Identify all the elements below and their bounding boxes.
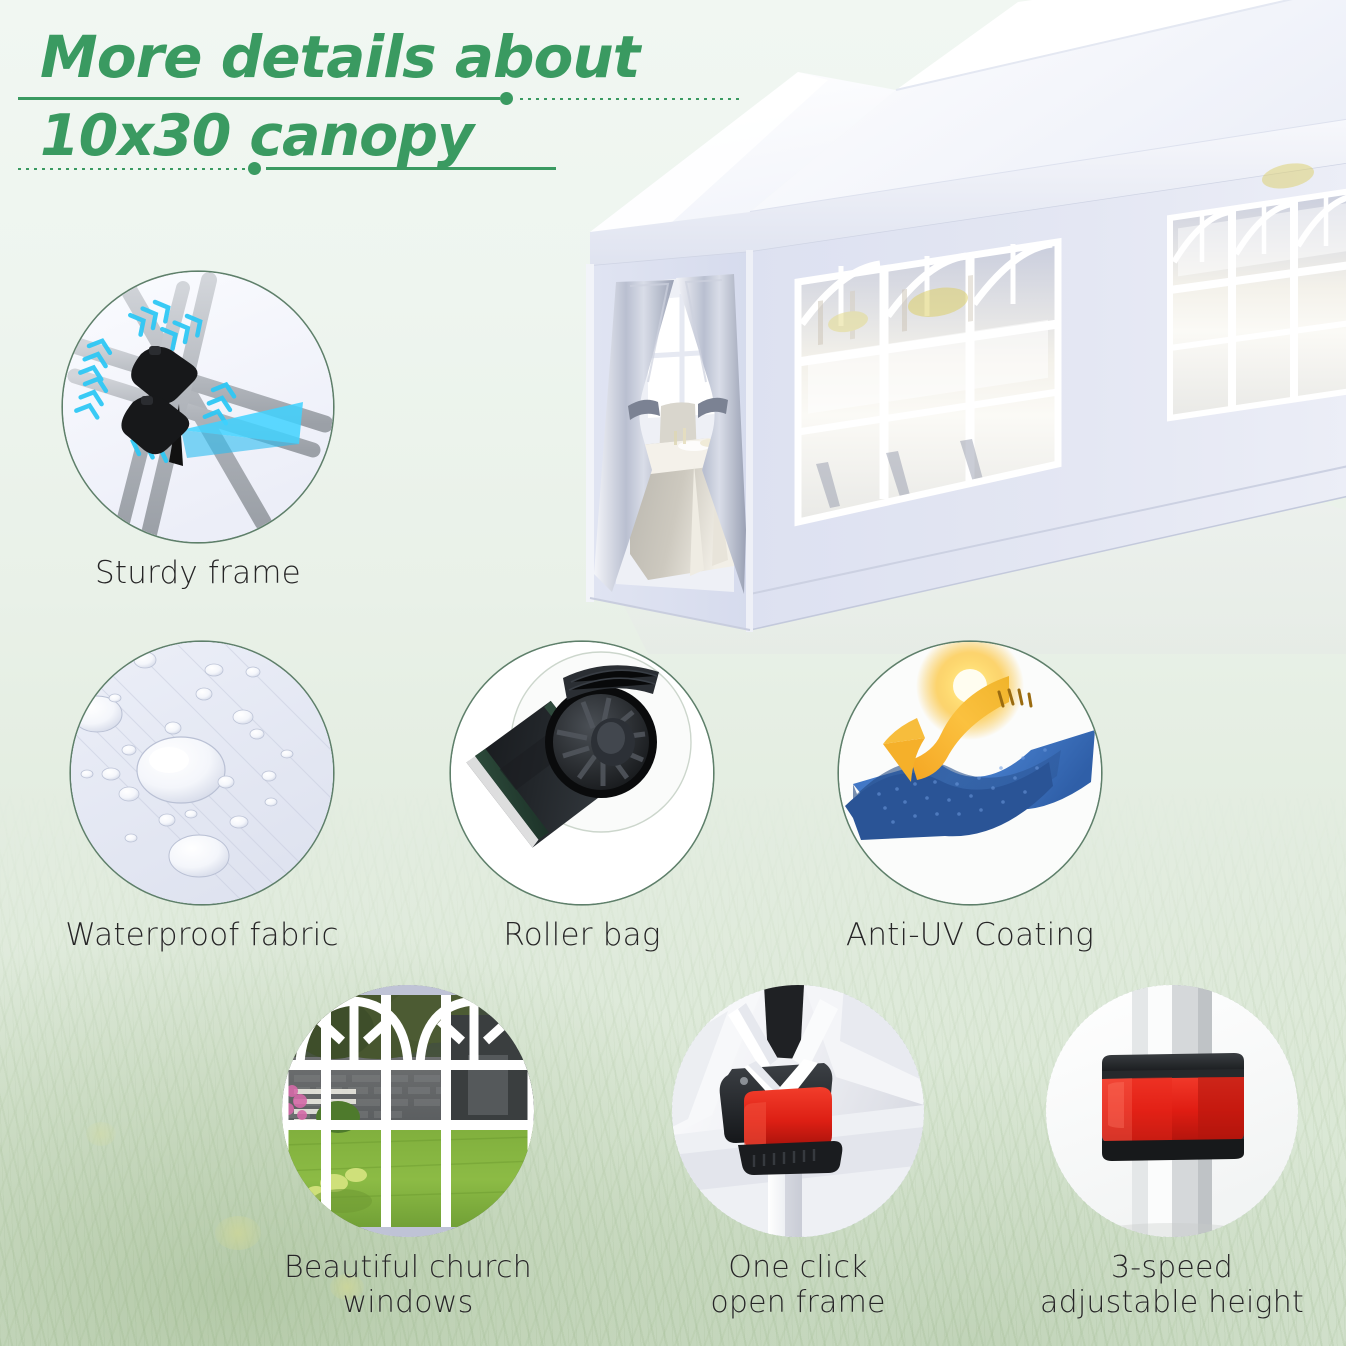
infographic-canvas: More details about 10x30 canopy bbox=[0, 0, 1346, 1346]
feature-label: 3-speed adjustable height bbox=[1022, 1251, 1322, 1321]
page-title-block: More details about 10x30 canopy bbox=[40, 28, 740, 177]
feature-label: Roller bag bbox=[432, 918, 732, 954]
page-title-line-2: 10x30 canopy bbox=[40, 107, 740, 165]
church-window-icon bbox=[282, 985, 534, 1237]
divider-dot bbox=[248, 162, 261, 175]
divider-solid-segment bbox=[266, 167, 556, 170]
divider-solid-segment bbox=[18, 97, 500, 100]
feature-3-speed-adjustable-height: 3-speed adjustable height bbox=[1022, 985, 1322, 1321]
divider-dotted-segment bbox=[18, 168, 248, 170]
feature-label: Beautiful church windows bbox=[258, 1251, 558, 1321]
divider-dotted-segment bbox=[520, 98, 740, 100]
red-release-button-icon bbox=[672, 985, 924, 1237]
feature-sturdy-frame: Sturdy frame bbox=[48, 272, 348, 592]
feature-label-line-1: One click bbox=[728, 1250, 867, 1285]
page-title-line-1: More details about bbox=[40, 28, 740, 87]
divider-dot bbox=[500, 92, 513, 105]
red-height-clamp-icon bbox=[1046, 985, 1298, 1237]
feature-waterproof-fabric: Waterproof fabric bbox=[52, 642, 352, 954]
feature-label-line-2: adjustable height bbox=[1040, 1285, 1304, 1320]
water-droplets-icon bbox=[71, 642, 333, 904]
title-divider-bottom bbox=[40, 161, 600, 175]
frame-joint-icon bbox=[63, 272, 333, 542]
feature-label: Sturdy frame bbox=[48, 556, 348, 592]
feature-anti-uv-coating: Anti-UV Coating bbox=[820, 642, 1120, 954]
feature-label: One click open frame bbox=[648, 1251, 948, 1321]
feature-label-line-1: Beautiful church bbox=[284, 1250, 532, 1285]
feature-beautiful-church-windows: Beautiful church windows bbox=[258, 985, 558, 1321]
feature-label-line-1: 3-speed bbox=[1111, 1250, 1233, 1285]
sun-uv-shield-icon bbox=[839, 642, 1101, 904]
feature-label: Anti-UV Coating bbox=[820, 918, 1120, 954]
feature-label: Waterproof fabric bbox=[52, 918, 352, 954]
feature-label-line-2: windows bbox=[343, 1285, 474, 1320]
feature-roller-bag: Roller bag bbox=[432, 642, 732, 954]
feature-label-line-2: open frame bbox=[710, 1285, 885, 1320]
roller-bag-icon bbox=[451, 642, 713, 904]
title-divider-top bbox=[40, 91, 740, 105]
feature-one-click-open-frame: One click open frame bbox=[648, 985, 948, 1321]
